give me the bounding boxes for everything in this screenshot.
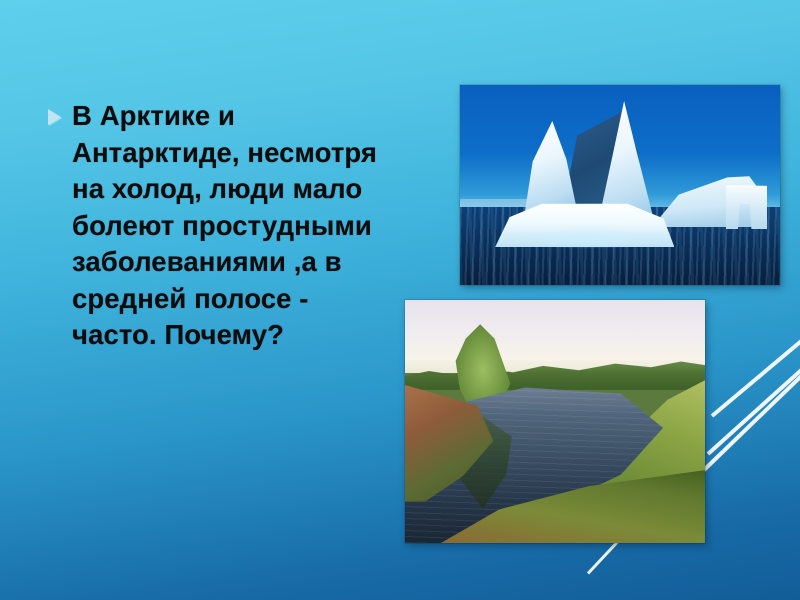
diagonal-streak-3 [711,339,800,418]
bullet-row: В Арктике и Антарктиде, несмотря на холо… [48,98,400,354]
triangle-right-bullet-icon [48,109,61,125]
slide-canvas: В Арктике и Антарктиде, несмотря на холо… [0,0,800,600]
river-landscape-photo: Река в средней полосе летом [405,300,705,543]
diagonal-streak-2 [707,364,800,455]
iceberg-waterline-glow [505,229,671,249]
iceberg-photo: Айсберг в океане [460,85,780,285]
river-sky [405,300,705,373]
bullet-paragraph: В Арктике и Антарктиде, несмотря на холо… [72,98,400,354]
diagonal-streak-1 [703,371,800,471]
bullet-text-block: В Арктике и Антарктиде, несмотря на холо… [48,98,400,354]
